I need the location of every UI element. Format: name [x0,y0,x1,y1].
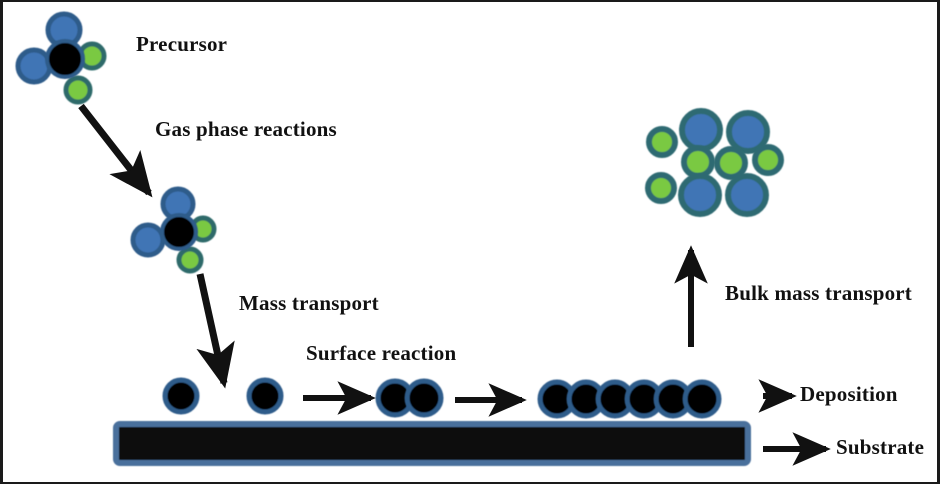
adatom-1 [165,380,197,412]
label-deposition: Deposition [800,384,898,405]
label-substrate: Substrate [836,437,924,458]
cvd-diagram-canvas: Precursor Gas phase reactions Mass trans… [0,0,940,484]
precursor-molecule-top [18,14,104,102]
diagram-graphics-layer [3,2,940,484]
label-mass-transport: Mass transport [239,293,379,314]
cluster-particle-green-4 [684,148,712,176]
cluster-particle-blue-8 [681,176,719,214]
cluster-particle-blue-9 [728,176,766,214]
dimer-atom-2 [407,381,441,415]
adatom-2 [249,380,281,412]
substrate-bar [116,424,748,463]
cluster-particle-green-1 [649,129,675,155]
cluster-particle-blue-3 [729,113,767,151]
label-gas-phase-reactions: Gas phase reactions [155,119,337,140]
precursor-molecule-mid [133,189,214,271]
label-surface-reaction: Surface reaction [306,343,456,364]
precursor-molecule-mid-satellite-blue-1 [133,225,163,255]
arrow-mass-transport [200,274,224,383]
label-precursor: Precursor [136,34,227,55]
cluster-particle-green-6 [755,147,781,173]
bulk-cluster-group [648,111,781,214]
island-atom-6 [685,382,719,416]
arrow-gas-phase [81,106,149,193]
cluster-particle-green-7 [648,175,674,201]
label-bulk-mass-transport: Bulk mass transport [725,283,912,304]
precursor-molecule-mid-core-atom [162,215,196,249]
precursor-molecule-top-core-atom [47,41,83,77]
precursor-molecule-top-satellite-blue-1 [18,50,50,82]
precursor-molecule-top-satellite-green-3 [66,78,90,102]
cluster-particle-green-5 [717,149,745,177]
cluster-particle-blue-2 [682,111,720,149]
precursor-molecule-mid-satellite-green-3 [179,249,201,271]
surface-species-group [165,380,719,416]
